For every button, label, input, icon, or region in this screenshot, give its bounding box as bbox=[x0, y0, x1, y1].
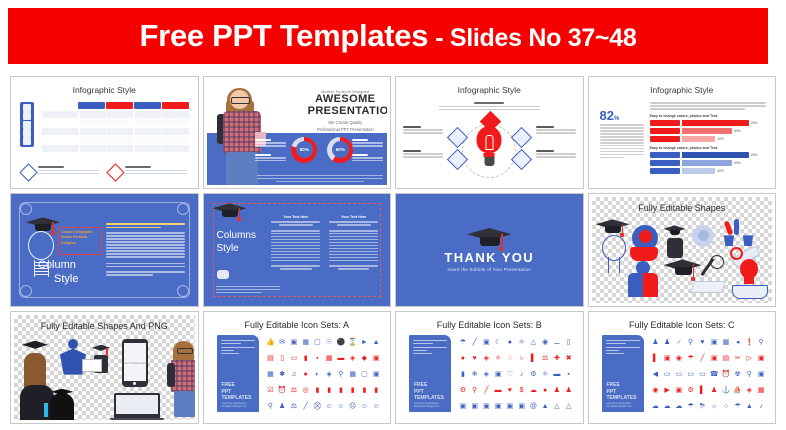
text-line bbox=[439, 106, 540, 108]
text-line bbox=[271, 230, 320, 232]
text-line bbox=[329, 254, 378, 256]
slide-thumbnail-9[interactable]: Fully Editable Shapes And PNG bbox=[10, 311, 199, 424]
slide-1-icon-rail bbox=[20, 102, 34, 147]
table-cell bbox=[162, 111, 188, 118]
table-header-cell bbox=[78, 102, 105, 109]
stat-value: 82 bbox=[600, 108, 614, 123]
cap-board bbox=[51, 389, 73, 396]
phone-box-icon: ▮ bbox=[461, 371, 465, 378]
bulb-base bbox=[608, 257, 620, 273]
minus-circle-icon: ⛒ bbox=[314, 403, 321, 410]
row-label bbox=[42, 128, 78, 135]
text-line bbox=[413, 343, 433, 344]
diamond-badge-icon bbox=[107, 164, 125, 182]
bar-row: 40% bbox=[650, 168, 767, 174]
woman-icon: ♟ bbox=[664, 339, 670, 346]
phone-icon: ▪ bbox=[316, 355, 318, 362]
slide-6-note bbox=[216, 286, 281, 295]
slide-thumbnail-11[interactable]: Fully Editable Icon Sets: B FREE PPT TEM… bbox=[395, 311, 584, 424]
tools-icon bbox=[23, 121, 31, 129]
person-icon: ♟ bbox=[565, 387, 571, 394]
slide-thumbnail-12[interactable]: Fully Editable Icon Sets: C FREE PPT TEM… bbox=[588, 311, 777, 424]
laptop-icon bbox=[114, 393, 160, 419]
text-line bbox=[106, 271, 185, 273]
cross-icon: ✖ bbox=[566, 355, 572, 362]
sun-icon: ☼ bbox=[711, 403, 717, 410]
bar-value: 40% bbox=[717, 169, 723, 173]
slide-5-callout: Column Infographic Simple Portfolio Desi… bbox=[58, 227, 102, 255]
table-header-cell bbox=[134, 102, 161, 109]
tag-icon: ◈ bbox=[350, 355, 355, 362]
thumbs-up-icon: 👍 bbox=[266, 339, 275, 346]
trophy-icon: ⚖ bbox=[291, 387, 297, 394]
cap-tassel bbox=[693, 264, 695, 278]
banner-text: Free PPT Templates- Slides No 37~48 bbox=[140, 18, 637, 54]
phone-screen-label: Your Picture Here bbox=[122, 361, 148, 365]
slide-6-column-1: Your Text Here bbox=[271, 215, 320, 270]
grid-icon: ▦ bbox=[349, 371, 356, 378]
plant-leaf-icon bbox=[723, 221, 732, 236]
book-icon: ▮ bbox=[327, 387, 331, 394]
printer-icon bbox=[23, 104, 31, 112]
slide-12-icon-grid: ♟♟♂⚲♥▣▦◂❗⚲ ▌▣◉☂╱▣▤✂▷▣ ◀▭▭▭▭☎⏰☢⚲▣ ◉▶▣⚙▌♟⚓… bbox=[650, 335, 768, 414]
alarm-icon: ⏰ bbox=[278, 387, 287, 394]
brand-line-3: TEMPLATES bbox=[414, 395, 444, 401]
user-icon: ♟ bbox=[554, 387, 560, 394]
speaker-icon: ◀ bbox=[653, 371, 658, 378]
text-line bbox=[600, 136, 644, 138]
text-line bbox=[216, 292, 263, 294]
bar-fill bbox=[682, 136, 716, 142]
slide-2-heading-line2: PRESENTATION bbox=[308, 106, 383, 118]
graduation-cap-large-icon bbox=[664, 259, 702, 277]
slide-thumbnail-10[interactable]: Fully Editable Icon Sets: A FREE PPT TEM… bbox=[203, 311, 392, 424]
swirl-decoration bbox=[20, 285, 32, 297]
cap-base bbox=[35, 224, 51, 231]
block-title bbox=[536, 150, 554, 152]
text-line bbox=[106, 244, 185, 246]
eye-icon: ◉ bbox=[542, 339, 548, 346]
text-line bbox=[221, 350, 235, 351]
search-icon: ⚲ bbox=[338, 371, 343, 378]
bag-icon: ▣ bbox=[483, 339, 490, 346]
text-line bbox=[329, 257, 378, 259]
card-url: www.free-powerpoint-templates-design.com bbox=[222, 402, 259, 408]
chat-bubble-icon bbox=[217, 270, 229, 279]
scissors-icon: ✂ bbox=[735, 355, 741, 362]
slide-4-intro bbox=[650, 102, 767, 110]
leaf-icon: ◈ bbox=[484, 371, 489, 378]
book-icon: ▮ bbox=[351, 387, 355, 394]
text-line bbox=[38, 170, 99, 172]
slide-thumbnail-7[interactable]: THANK YOU Insert the Subtitle of Your Pr… bbox=[395, 193, 584, 306]
text-line bbox=[536, 153, 576, 155]
text-line bbox=[271, 248, 320, 250]
brain-icon bbox=[698, 230, 709, 241]
text-line bbox=[255, 160, 286, 162]
body-title-line bbox=[106, 223, 185, 225]
pencil-icon: ╱ bbox=[700, 355, 704, 362]
gear-icon: ⚙ bbox=[687, 387, 693, 394]
slide-11-title: Fully Editable Icon Sets: B bbox=[399, 320, 580, 330]
cloud-icon: ☁ bbox=[530, 387, 537, 394]
car-icon: ▷ bbox=[747, 355, 752, 362]
slide-thumbnail-1[interactable]: Infographic Style bbox=[10, 76, 199, 189]
table-row bbox=[42, 136, 189, 143]
slide-6-canvas: Columns Style Your Text Here bbox=[207, 197, 388, 302]
heart-outline-icon: ♡ bbox=[507, 371, 513, 378]
block-title bbox=[536, 126, 554, 128]
bandage-icon: ▬ bbox=[495, 387, 502, 394]
card-url: www.free-powerpoint-templates-design.com bbox=[414, 402, 451, 408]
battery-low-icon: ▭ bbox=[676, 371, 683, 378]
slide-2-subtitle-line2: Professional PPT Presentation bbox=[308, 127, 383, 133]
slide-thumbnail-5[interactable]: Column Infographic Simple Portfolio Desi… bbox=[10, 193, 199, 306]
text-line bbox=[125, 173, 186, 175]
card-brand: FREE PPT TEMPLATES bbox=[414, 382, 444, 401]
text-line bbox=[255, 157, 286, 159]
column-title: Your Text Here bbox=[271, 215, 320, 219]
pinterest-icon: ▣ bbox=[471, 403, 478, 410]
text-line bbox=[221, 343, 241, 344]
slide-2-left-block-2 bbox=[255, 154, 286, 163]
text-line bbox=[106, 232, 185, 234]
battery-mid-icon: ▭ bbox=[687, 371, 694, 378]
bar-value: 40% bbox=[717, 137, 723, 141]
cloud-icon: ☁ bbox=[652, 403, 659, 410]
cloud-icon: ☁ bbox=[675, 403, 682, 410]
jeans-icon bbox=[174, 391, 195, 417]
row-label bbox=[42, 111, 78, 118]
book-icon: ▮ bbox=[374, 387, 378, 394]
donut-ring: 80% bbox=[291, 137, 317, 163]
table-cell bbox=[135, 145, 161, 152]
slide-10-canvas: Fully Editable Icon Sets: A FREE PPT TEM… bbox=[207, 315, 388, 420]
slide-7-subtitle: Insert the Subtitle of Your Presentation bbox=[448, 267, 531, 272]
chart-group-title-1: Easy to change colors, photos and Text. bbox=[650, 114, 767, 118]
image-icon: ▣ bbox=[676, 387, 683, 394]
lock-icon: ▣ bbox=[495, 371, 502, 378]
slide-1-canvas: Infographic Style bbox=[14, 80, 195, 185]
footnote-title bbox=[38, 166, 64, 168]
text-line bbox=[600, 151, 644, 153]
slide-11-icon-grid: ☂╱▣☾●⚛△◉⚊▯ ●♥◈⚛♢♭▌⚖✚✖ ▮❄◈▣♡♪⚙⚛▬▪ ⚙⚲╱▬♥$☁… bbox=[457, 335, 575, 414]
slide-3-text-right-2 bbox=[536, 150, 576, 159]
block-title bbox=[403, 150, 421, 152]
mortarboard-shape bbox=[92, 345, 110, 354]
bar-value: 60% bbox=[734, 129, 740, 133]
block-title bbox=[352, 139, 368, 141]
block-title bbox=[403, 126, 421, 128]
table-header-row bbox=[78, 102, 189, 109]
student-photo bbox=[166, 341, 195, 417]
printer-icon: ▤ bbox=[267, 355, 274, 362]
text-line bbox=[600, 139, 644, 141]
record-icon: ◉ bbox=[652, 387, 658, 394]
text-line bbox=[606, 340, 640, 341]
moon-icon: ☾ bbox=[495, 339, 501, 346]
frown-icon: ☹ bbox=[349, 403, 356, 410]
text-line bbox=[352, 145, 383, 147]
camera-icon: ▣ bbox=[291, 339, 298, 346]
wink-icon: ☺ bbox=[361, 403, 368, 410]
text-line bbox=[352, 160, 383, 162]
gear-icon: ⚙ bbox=[530, 371, 536, 378]
bar-row: 60% bbox=[650, 160, 767, 166]
mobile-icon: ▪ bbox=[567, 371, 569, 378]
text-line bbox=[536, 156, 576, 158]
gift-icon: ◆ bbox=[362, 355, 367, 362]
slide-10-icon-grid: 👍✉▣▦▢☉⚫⌛►▲ ▤▯▭▮▪▦▬◈◆▣ ▦✱♫●◐◈⚲▦▢▣ ☑⏰⚖◎▮▮▮… bbox=[265, 335, 383, 414]
bulb-neck bbox=[744, 277, 754, 284]
battery-icon: ▬ bbox=[553, 371, 560, 378]
slide-2-canvas: Modern Portfolio Designed AWESOME PRESEN… bbox=[207, 80, 388, 185]
header-banner: Free PPT Templates- Slides No 37~48 bbox=[8, 8, 768, 64]
truck-icon: ▣ bbox=[758, 355, 765, 362]
bar-track: 80% bbox=[682, 152, 767, 158]
tree-icon: ▲ bbox=[542, 403, 549, 410]
slide-8-canvas: Fully Editable Shapes bbox=[592, 197, 773, 302]
text-line bbox=[329, 230, 378, 232]
tablet-icon: ▮ bbox=[304, 355, 308, 362]
text-line bbox=[329, 239, 378, 241]
instagram-icon: ▣ bbox=[518, 403, 525, 410]
table-cell bbox=[80, 145, 106, 152]
gown-shape bbox=[667, 238, 683, 258]
slide-2-subtitle-line1: We Create Quality bbox=[308, 120, 383, 126]
text-line bbox=[413, 347, 447, 348]
text-line bbox=[271, 265, 320, 267]
text-line bbox=[271, 236, 320, 238]
slide-5-big-line1: Column bbox=[38, 259, 78, 273]
slide-thumbnail-4[interactable]: Infographic Style 82% bbox=[588, 76, 777, 189]
graduation-cap-icon bbox=[467, 228, 511, 248]
lungs-icon: ◈ bbox=[484, 355, 489, 362]
mortarboard-shape bbox=[467, 228, 511, 248]
text-line bbox=[271, 254, 320, 256]
swirl-decoration bbox=[177, 285, 189, 297]
text-line bbox=[329, 221, 378, 223]
card-url: www.free-powerpoint-templates-design.com bbox=[607, 402, 644, 408]
slide-5-canvas: Column Infographic Simple Portfolio Desi… bbox=[14, 197, 195, 302]
pig-icon: ◈ bbox=[747, 387, 752, 394]
student-body-half bbox=[628, 273, 643, 297]
slide-4-stat: 82% bbox=[600, 108, 620, 123]
bar-fill bbox=[682, 160, 733, 166]
slide-3-canvas: Infographic Style bbox=[399, 80, 580, 185]
table-cell bbox=[107, 119, 133, 126]
text-line bbox=[257, 175, 383, 177]
slide-4-stat-body bbox=[600, 124, 644, 160]
text-line bbox=[352, 157, 383, 159]
table-row bbox=[42, 128, 189, 135]
text-line bbox=[329, 248, 378, 250]
bar-value: 80% bbox=[751, 121, 757, 125]
text-line bbox=[650, 108, 746, 110]
tassel-end bbox=[237, 217, 241, 221]
idea-bulb-icon bbox=[639, 230, 652, 243]
cap-base bbox=[480, 237, 500, 246]
padlock-icon: ▣ bbox=[711, 355, 718, 362]
text-line bbox=[536, 129, 576, 131]
row-label bbox=[42, 136, 78, 143]
plant-icon: △ bbox=[554, 403, 559, 410]
slide-1-footnotes bbox=[22, 166, 187, 179]
text-line bbox=[606, 353, 625, 354]
person-icon: ♟ bbox=[279, 403, 285, 410]
slide-6-big-line1: Columns bbox=[217, 229, 256, 242]
text-line bbox=[271, 260, 320, 262]
mortarboard-shape bbox=[51, 389, 73, 398]
footnote-item bbox=[22, 166, 99, 179]
bulb-glass bbox=[28, 231, 54, 260]
pen-icon: ╱ bbox=[304, 403, 308, 410]
text-line bbox=[439, 109, 540, 111]
bar-label bbox=[650, 168, 680, 174]
text-line bbox=[600, 157, 624, 159]
clock-icon: ⏰ bbox=[722, 371, 731, 378]
gender-icon: ♂ bbox=[676, 339, 681, 346]
graduation-cap-icon bbox=[596, 219, 630, 235]
text-line bbox=[536, 132, 576, 134]
text-line bbox=[255, 145, 286, 147]
twitter-icon: ▣ bbox=[507, 403, 514, 410]
smile-icon: ☺ bbox=[326, 403, 333, 410]
text-line bbox=[606, 347, 640, 348]
slide-2-right-block-1 bbox=[352, 139, 383, 148]
palette-icon: ◐ bbox=[315, 371, 319, 378]
stat-unit: % bbox=[614, 116, 619, 122]
slide-5-big-text: Column Style bbox=[38, 259, 78, 287]
table-cell bbox=[135, 111, 161, 118]
cap-base bbox=[605, 226, 621, 233]
diamond-badge-icon bbox=[19, 164, 37, 182]
pin-icon: ⚲ bbox=[268, 403, 273, 410]
slide-5-big-line2: Style bbox=[54, 273, 78, 287]
text-line bbox=[106, 263, 185, 265]
slide-thumbnail-6[interactable]: Columns Style Your Text Here bbox=[203, 193, 392, 306]
mortarboard-shape bbox=[664, 259, 702, 277]
radioactive-icon: ☢ bbox=[734, 371, 740, 378]
text-line bbox=[329, 245, 378, 247]
envelope-icon: ✉ bbox=[279, 339, 285, 346]
slide-3-text-left-1 bbox=[403, 126, 443, 135]
capsule-icon: ● bbox=[543, 387, 547, 394]
block-title bbox=[255, 154, 271, 156]
card-brand: FREE PPT TEMPLATES bbox=[222, 382, 252, 401]
text-line bbox=[279, 224, 313, 226]
chart-icon: ▦ bbox=[302, 339, 309, 346]
umbrella-icon: ☂ bbox=[687, 355, 693, 362]
bar-track: 40% bbox=[682, 168, 767, 174]
umbrella-icon: ☂ bbox=[734, 403, 740, 410]
table-cell bbox=[107, 111, 133, 118]
slide-9-title: Fully Editable Shapes And PNG bbox=[14, 321, 195, 331]
cap-tassel bbox=[501, 234, 503, 248]
slide-10-card: FREE PPT TEMPLATES www.free-powerpoint-t… bbox=[217, 335, 259, 412]
slide-6-big-line2: Style bbox=[217, 242, 256, 255]
bar-label bbox=[650, 152, 680, 158]
cap-base bbox=[675, 267, 692, 275]
slide-12-canvas: Fully Editable Icon Sets: C FREE PPT TEM… bbox=[592, 315, 773, 420]
heart-small-icon: ♥ bbox=[508, 387, 512, 394]
table-row bbox=[42, 111, 189, 118]
smartphone-icon: Your Picture Here bbox=[122, 339, 148, 387]
text-line bbox=[106, 274, 153, 276]
bar-row: 60% bbox=[650, 128, 767, 134]
happy-icon: ☺ bbox=[373, 403, 380, 410]
text-line bbox=[216, 286, 281, 288]
ribbon-icon bbox=[730, 247, 743, 260]
mortarboard-shape bbox=[596, 219, 630, 235]
dollar-icon: $ bbox=[520, 387, 524, 394]
globe-icon: ☉ bbox=[326, 339, 332, 346]
slide-2-left-block-1 bbox=[255, 139, 286, 148]
feather-icon: ♪ bbox=[520, 371, 524, 378]
bag-icon: ▦ bbox=[723, 339, 730, 346]
linkedin-icon: ▣ bbox=[460, 403, 467, 410]
table-cell bbox=[107, 128, 133, 135]
document-icon bbox=[23, 112, 31, 120]
calculator-icon: ▦ bbox=[326, 355, 333, 362]
slide-9-canvas: Fully Editable Shapes And PNG bbox=[14, 315, 195, 420]
backpack-icon bbox=[167, 363, 175, 387]
footnote-item bbox=[109, 166, 186, 179]
female-graduate-icon bbox=[22, 341, 48, 399]
slide-thumbnail-3[interactable]: Infographic Style bbox=[395, 76, 584, 189]
slide-2-right-block-2 bbox=[352, 154, 383, 163]
cap-base bbox=[670, 230, 680, 235]
text-line bbox=[650, 105, 767, 107]
slide-11-canvas: Fully Editable Icon Sets: B FREE PPT TEM… bbox=[399, 315, 580, 420]
factory-icon: ▦ bbox=[267, 371, 274, 378]
graduate-with-certificate-icon bbox=[92, 345, 110, 373]
text-line bbox=[606, 350, 620, 351]
text-line bbox=[600, 124, 644, 126]
text-line bbox=[106, 235, 185, 237]
page-root: Free PPT Templates- Slides No 37~48 Info… bbox=[0, 0, 786, 430]
mortarboard-shape bbox=[213, 203, 247, 219]
brand-line-3: TEMPLATES bbox=[222, 395, 252, 401]
text-line bbox=[257, 178, 383, 180]
text-line bbox=[606, 343, 626, 344]
table-row bbox=[42, 119, 189, 126]
text-line bbox=[106, 256, 185, 258]
layers-icon: ◈ bbox=[326, 371, 331, 378]
column-title: Your Text Here bbox=[329, 215, 378, 219]
virus-icon: ⚛ bbox=[495, 355, 501, 362]
network-icon: ⚛ bbox=[542, 371, 548, 378]
target-icon: ◎ bbox=[303, 387, 309, 394]
table-cell bbox=[107, 136, 133, 143]
slide-10-title: Fully Editable Icon Sets: A bbox=[207, 320, 388, 330]
umbrella-icon: ☂ bbox=[460, 339, 466, 346]
slide-thumbnail-8[interactable]: Fully Editable Shapes bbox=[588, 193, 777, 306]
atom-icon: ⚛ bbox=[518, 339, 524, 346]
heart-icon: ♥ bbox=[473, 355, 477, 362]
heart-icon: ♥ bbox=[700, 339, 704, 346]
row-label bbox=[42, 145, 78, 152]
exclamation-icon: ❗ bbox=[745, 339, 754, 346]
glasses-icon bbox=[177, 348, 193, 354]
bar-label bbox=[650, 128, 680, 134]
text-line bbox=[413, 353, 432, 354]
table-cell bbox=[80, 119, 106, 126]
slide-thumbnail-2[interactable]: Modern Portfolio Designed AWESOME PRESEN… bbox=[203, 76, 392, 189]
paper-icon bbox=[689, 281, 725, 293]
text-line bbox=[271, 239, 320, 241]
body-title-line bbox=[106, 227, 161, 229]
